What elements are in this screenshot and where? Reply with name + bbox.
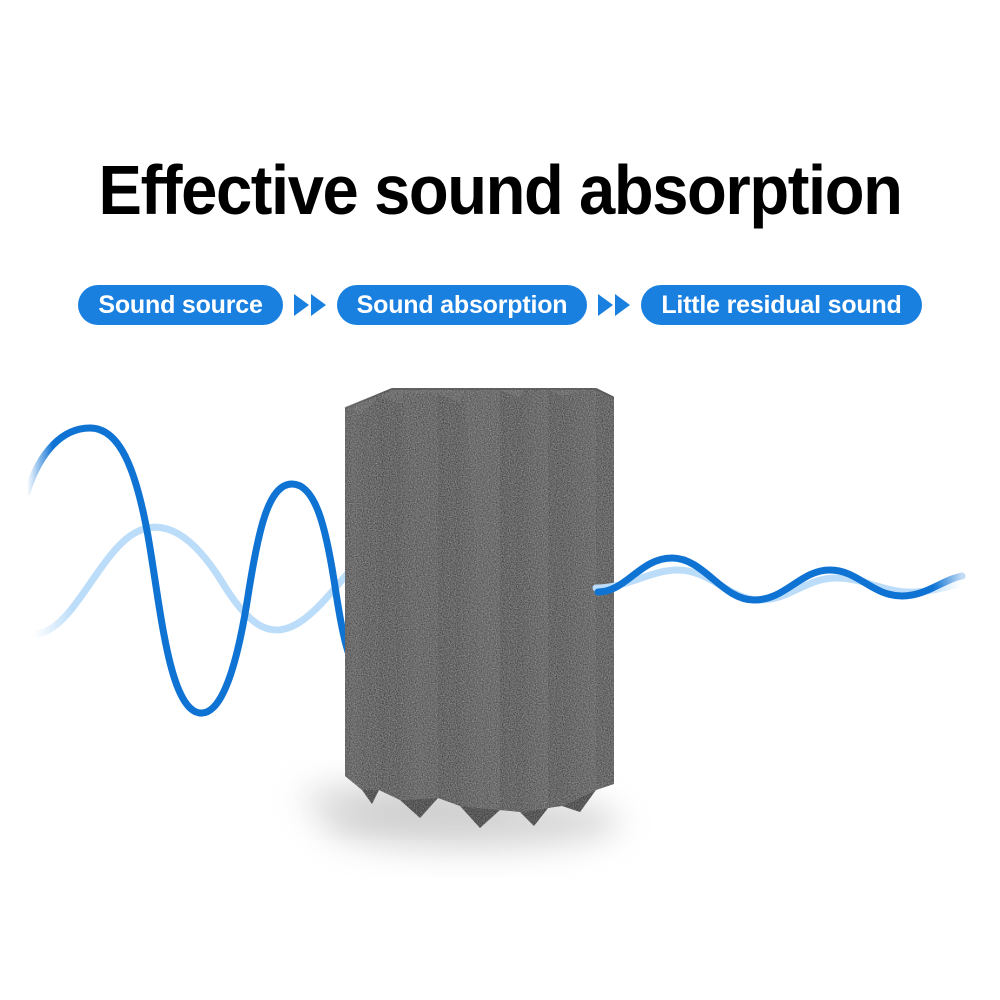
incoming-wave-right	[598, 558, 962, 600]
sound-absorption-illustration	[0, 0, 1000, 1000]
residual-sound-waves	[0, 0, 1000, 1000]
promo-graphic: Effective sound absorption Sound source …	[0, 0, 1000, 1000]
